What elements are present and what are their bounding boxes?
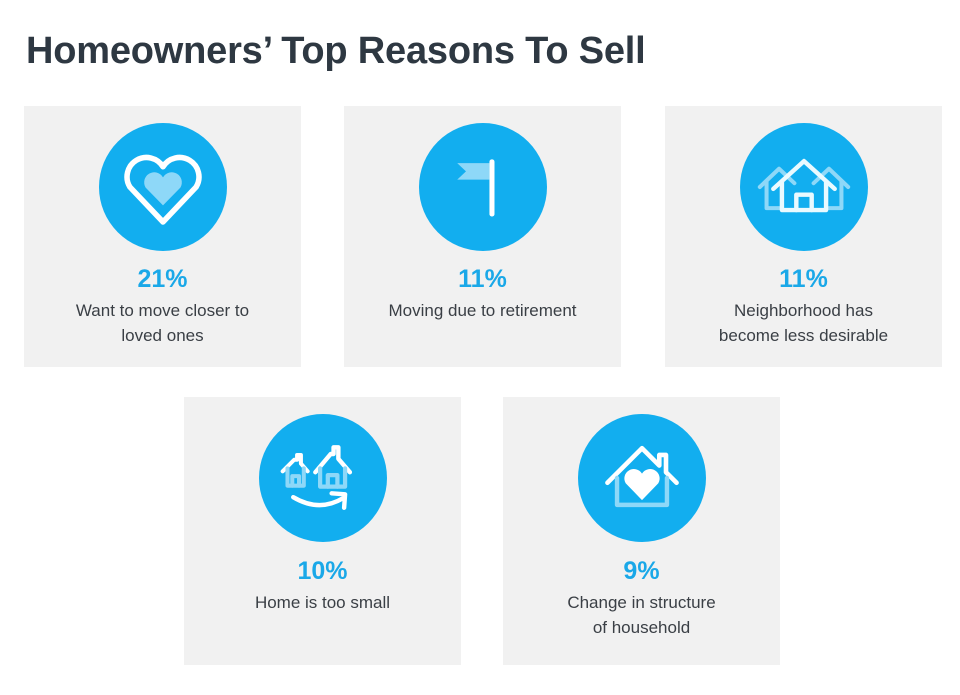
stat-caption: Neighborhood has become less desirable bbox=[679, 298, 929, 348]
icon-circle bbox=[419, 123, 547, 251]
neighborhood-houses-icon bbox=[756, 139, 852, 235]
house-with-heart-icon bbox=[594, 430, 690, 526]
stat-percent: 11% bbox=[458, 266, 507, 292]
caption-line: Home is too small bbox=[198, 590, 448, 615]
stat-card-change-in-household-structure: 9% Change in structure of household bbox=[503, 397, 780, 665]
stat-card-moving-due-to-retirement: 11% Moving due to retirement bbox=[344, 106, 621, 367]
caption-line: Moving due to retirement bbox=[358, 298, 608, 323]
house-upsize-arrow-icon bbox=[275, 430, 371, 526]
page-title: Homeowners’ Top Reasons To Sell bbox=[26, 28, 646, 74]
stat-caption: Home is too small bbox=[198, 590, 448, 615]
icon-circle bbox=[578, 414, 706, 542]
icon-circle bbox=[740, 123, 868, 251]
flag-icon bbox=[437, 141, 529, 233]
stat-caption: Moving due to retirement bbox=[358, 298, 608, 323]
heart-icon bbox=[117, 141, 209, 233]
icon-circle bbox=[259, 414, 387, 542]
stat-caption: Change in structure of household bbox=[517, 590, 767, 640]
stat-percent: 9% bbox=[623, 558, 659, 584]
caption-line: Want to move closer to bbox=[38, 298, 288, 323]
icon-circle bbox=[99, 123, 227, 251]
stat-percent: 11% bbox=[779, 266, 828, 292]
infographic-root: Homeowners’ Top Reasons To Sell 21% Want… bbox=[0, 0, 960, 695]
caption-line: Neighborhood has bbox=[679, 298, 929, 323]
caption-line: loved ones bbox=[38, 323, 288, 348]
stat-percent: 10% bbox=[297, 558, 347, 584]
stat-percent: 21% bbox=[137, 266, 187, 292]
stat-caption: Want to move closer to loved ones bbox=[38, 298, 288, 348]
stat-card-move-closer-to-loved-ones: 21% Want to move closer to loved ones bbox=[24, 106, 301, 367]
caption-line: Change in structure bbox=[517, 590, 767, 615]
caption-line: become less desirable bbox=[679, 323, 929, 348]
stat-card-home-too-small: 10% Home is too small bbox=[184, 397, 461, 665]
caption-line: of household bbox=[517, 615, 767, 640]
stat-card-neighborhood-less-desirable: 11% Neighborhood has become less desirab… bbox=[665, 106, 942, 367]
